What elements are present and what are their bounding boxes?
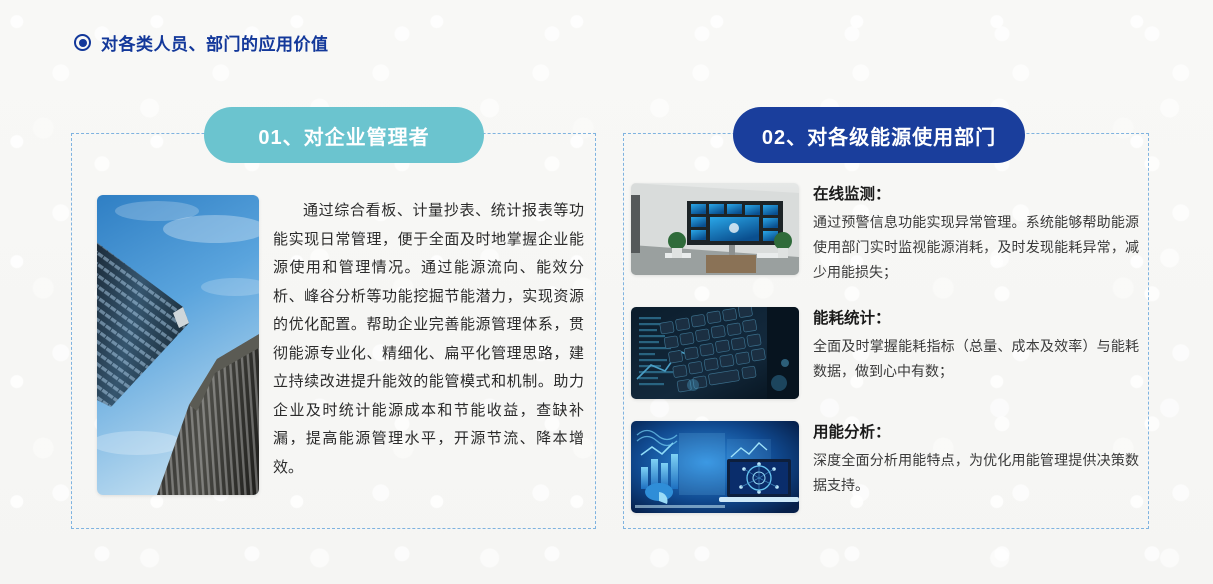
- panel-content-02: 在线监测： 通过预警信息功能实现异常管理。系统能够帮助能源使用部门实时监视能源消…: [623, 133, 1149, 529]
- image-keyboard-data: [631, 307, 799, 399]
- image-control-room: [631, 183, 799, 275]
- feature-title: 用能分析：: [813, 421, 1139, 445]
- feature-row: 在线监测： 通过预警信息功能实现异常管理。系统能够帮助能源使用部门实时监视能源消…: [631, 183, 1139, 285]
- analytics-laptop-artwork: [631, 421, 799, 513]
- feature-title: 在线监测：: [813, 183, 1139, 207]
- feature-description: 深度全面分析用能特点，为优化用能管理提供决策数据支持。: [813, 448, 1139, 498]
- feature-title: 能耗统计：: [813, 307, 1139, 331]
- panel-title-pill-01[interactable]: 01、对企业管理者: [204, 107, 484, 163]
- panel-content-01: 通过综合看板、计量抄表、统计报表等功能实现日常管理，便于全面及时地掌握企业能源使…: [71, 133, 596, 529]
- feature-text: 在线监测： 通过预警信息功能实现异常管理。系统能够帮助能源使用部门实时监视能源消…: [813, 183, 1139, 285]
- target-circle-icon: [74, 34, 91, 51]
- panel-title-pill-02[interactable]: 02、对各级能源使用部门: [733, 107, 1025, 163]
- feature-description: 全面及时掌握能耗指标（总量、成本及效率）与能耗数据，做到心中有数；: [813, 334, 1139, 384]
- page-title: 对各类人员、部门的应用价值: [101, 30, 329, 55]
- feature-row: 能耗统计： 全面及时掌握能耗指标（总量、成本及效率）与能耗数据，做到心中有数；: [631, 307, 1139, 399]
- feature-text: 用能分析： 深度全面分析用能特点，为优化用能管理提供决策数据支持。: [813, 421, 1139, 498]
- feature-description: 通过预警信息功能实现异常管理。系统能够帮助能源使用部门实时监视能源消耗，及时发现…: [813, 210, 1139, 285]
- panel-body-text-01: 通过综合看板、计量抄表、统计报表等功能实现日常管理，便于全面及时地掌握企业能源使…: [273, 195, 588, 505]
- skyscrapers-artwork: [97, 195, 259, 495]
- section-heading: 对各类人员、部门的应用价值: [74, 30, 329, 55]
- feature-row: 用能分析： 深度全面分析用能特点，为优化用能管理提供决策数据支持。: [631, 421, 1139, 513]
- page-root: 对各类人员、部门的应用价值 01、对企业管理者 02、对各级能源使用部门: [0, 0, 1213, 584]
- keyboard-data-artwork: [631, 307, 799, 399]
- image-analytics-laptop: [631, 421, 799, 513]
- image-skyscrapers: [97, 195, 259, 495]
- control-room-artwork: [631, 183, 799, 275]
- feature-text: 能耗统计： 全面及时掌握能耗指标（总量、成本及效率）与能耗数据，做到心中有数；: [813, 307, 1139, 384]
